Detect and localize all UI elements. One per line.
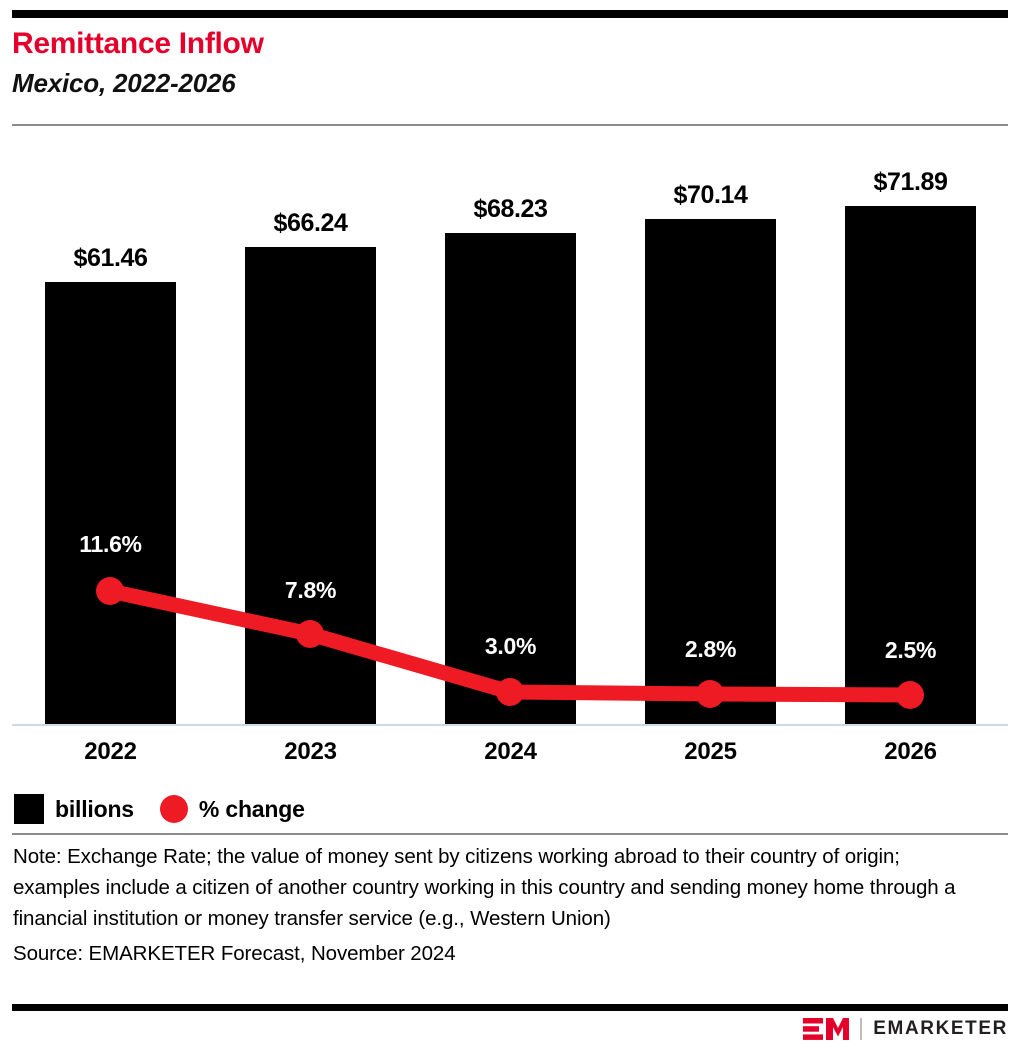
pct-value-2024: 3.0% bbox=[445, 633, 576, 660]
em-monogram-icon bbox=[803, 1017, 849, 1041]
brand-wordmark: EMARKETER bbox=[873, 1018, 1008, 1040]
chart-legend: billions % change bbox=[14, 793, 305, 825]
legend-item-billions: billions bbox=[14, 794, 134, 824]
line-marker-2024 bbox=[496, 678, 524, 706]
line-marker-2022 bbox=[96, 577, 124, 605]
page-subtitle: Mexico, 2022-2026 bbox=[12, 66, 1008, 100]
plot-area: $61.46 $66.24 $68.23 $70.14 $71.89 11.6%… bbox=[0, 140, 1020, 730]
circle-swatch-icon bbox=[160, 795, 188, 823]
x-tick-2023: 2023 bbox=[245, 738, 376, 766]
legend-label-pct-change: % change bbox=[199, 796, 305, 823]
line-marker-2026 bbox=[896, 681, 924, 709]
legend-divider bbox=[12, 833, 1008, 835]
chart-page: Remittance Inflow Mexico, 2022-2026 $61.… bbox=[0, 0, 1020, 1048]
pct-value-2023: 7.8% bbox=[245, 577, 376, 604]
x-axis-labels: 2022 2023 2024 2025 2026 bbox=[0, 738, 1020, 772]
note-text: Note: Exchange Rate; the value of money … bbox=[13, 841, 973, 934]
chart-header: Remittance Inflow Mexico, 2022-2026 bbox=[12, 26, 1008, 100]
brand-logo: EMARKETER bbox=[803, 1016, 1008, 1042]
source-text: Source: EMARKETER Forecast, November 202… bbox=[13, 938, 973, 969]
page-title: Remittance Inflow bbox=[12, 26, 1008, 62]
pct-value-2025: 2.8% bbox=[645, 636, 776, 663]
x-tick-2024: 2024 bbox=[445, 738, 576, 766]
x-tick-2026: 2026 bbox=[845, 738, 976, 766]
line-marker-2025 bbox=[696, 680, 724, 708]
top-rule bbox=[12, 10, 1008, 18]
pct-value-2026: 2.5% bbox=[845, 637, 976, 664]
legend-label-billions: billions bbox=[55, 796, 134, 823]
square-swatch-icon bbox=[14, 794, 44, 824]
x-tick-2022: 2022 bbox=[45, 738, 176, 766]
legend-item-pct-change: % change bbox=[160, 795, 305, 823]
header-divider bbox=[12, 124, 1008, 126]
pct-value-2022: 11.6% bbox=[45, 531, 176, 558]
x-tick-2025: 2025 bbox=[645, 738, 776, 766]
line-marker-2023 bbox=[296, 620, 324, 648]
footnotes: Note: Exchange Rate; the value of money … bbox=[13, 841, 973, 969]
brand-divider bbox=[860, 1018, 862, 1040]
bottom-rule bbox=[12, 1004, 1008, 1011]
